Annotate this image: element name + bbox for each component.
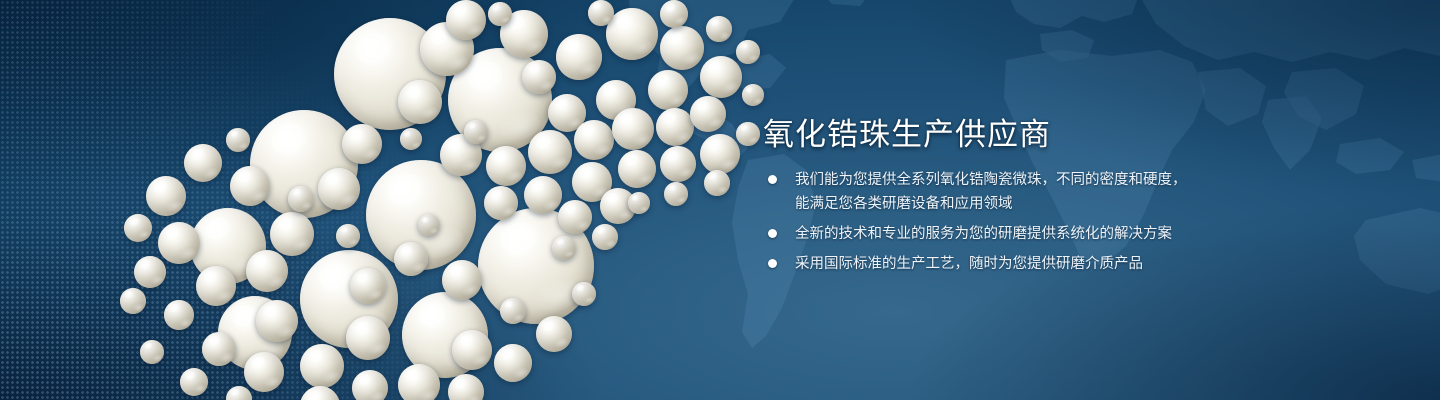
hero-banner: 氧化锆珠生产供应商 我们能为您提供全系列氧化锆陶瓷微珠，不同的密度和硬度， 能满… [0, 0, 1440, 400]
bullet-dot-icon [768, 259, 777, 268]
banner-text-content: 氧化锆珠生产供应商 我们能为您提供全系列氧化锆陶瓷微珠，不同的密度和硬度， 能满… [763, 0, 1383, 400]
list-item: 采用国际标准的生产工艺，随时为您提供研磨介质产品 [765, 252, 1365, 276]
feature-list: 我们能为您提供全系列氧化锆陶瓷微珠，不同的密度和硬度， 能满足您各类研磨设备和应… [765, 168, 1365, 282]
feature-text-line: 采用国际标准的生产工艺，随时为您提供研磨介质产品 [795, 252, 1365, 276]
feature-text-line: 能满足您各类研磨设备和应用领域 [795, 192, 1365, 216]
list-item: 我们能为您提供全系列氧化锆陶瓷微珠，不同的密度和硬度， 能满足您各类研磨设备和应… [765, 168, 1365, 216]
bullet-dot-icon [768, 175, 777, 184]
page-title: 氧化锆珠生产供应商 [763, 109, 1051, 154]
feature-text-line: 全新的技术和专业的服务为您的研磨提供系统化的解决方案 [795, 222, 1365, 246]
feature-text-line: 我们能为您提供全系列氧化锆陶瓷微珠，不同的密度和硬度， [795, 168, 1365, 192]
list-item: 全新的技术和专业的服务为您的研磨提供系统化的解决方案 [765, 222, 1365, 246]
bullet-dot-icon [768, 229, 777, 238]
